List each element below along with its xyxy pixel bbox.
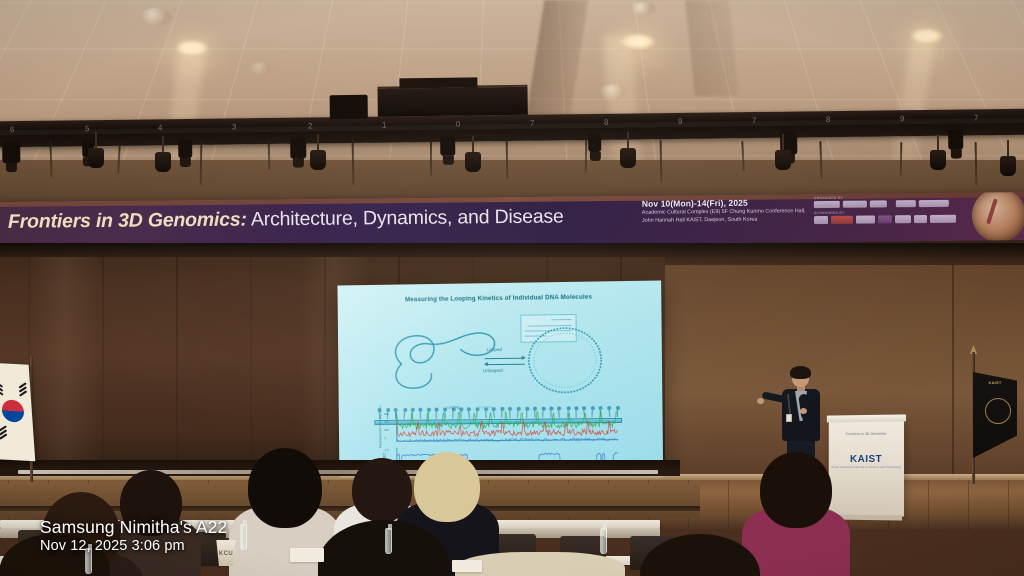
organizer-logo: [814, 201, 840, 208]
curtain-fold: [250, 243, 252, 485]
audience-member-head: [414, 452, 480, 522]
podium-kaist-sublogo: Korea Advanced Institute of Science and …: [829, 466, 904, 469]
podium-kaist-logo: KAIST: [829, 454, 904, 465]
slide-title: Measuring the Looping Kinetics of Indivi…: [338, 293, 662, 305]
floor-plank: [728, 478, 729, 530]
water-bottle: [85, 548, 92, 574]
truss-position-number: 8: [604, 118, 609, 127]
truss-position-number: 3: [232, 122, 237, 131]
stage-spotlight: [440, 136, 455, 156]
curtain-valance: [0, 243, 1024, 257]
annotation-looping: Looping: [447, 405, 459, 409]
truss-equipment-box: [330, 95, 368, 119]
plot-top-ytick: 600: [384, 412, 389, 416]
truss-position-number: 9: [900, 114, 905, 123]
sponsor-logo: [930, 214, 956, 222]
hanging-light-fixture: [620, 148, 636, 168]
plot-top-ytick: 0: [384, 436, 386, 440]
projected-slide: Measuring the Looping Kinetics of Indivi…: [337, 280, 663, 481]
banner-title-emphasis: Frontiers in 3D Genomics:: [8, 209, 247, 233]
floor-plank: [928, 478, 929, 530]
taeguk-symbol: [1, 399, 24, 422]
stage-edge-lightstrip: [18, 470, 658, 474]
sponsor-logo: [895, 215, 911, 223]
sponsor-logo: [814, 215, 828, 223]
stage-spotlight: [2, 141, 20, 163]
floor-plank: [1008, 478, 1009, 530]
hanging-light-fixture: [310, 150, 326, 170]
korea-flag: [0, 356, 42, 482]
sponsor-logo: [878, 215, 892, 223]
truss-position-number: 7: [530, 119, 535, 128]
handout-paper: [290, 548, 324, 562]
truss-position-number: 8: [826, 115, 831, 124]
paper-cup-text: KCU: [215, 551, 237, 557]
banner-title-rest: Architecture, Dynamics, and Disease: [247, 206, 564, 231]
hanging-light-fixture: [88, 148, 104, 168]
slide-diagram: Looped Unlooped: [338, 311, 663, 405]
presenter-left-hand: [757, 398, 764, 404]
banner-title: Frontiers in 3D Genomics: Architecture, …: [8, 206, 564, 234]
presenter-name-badge: [786, 414, 792, 422]
podium-event-caption: Frontiers in 3D Genomics: [829, 432, 904, 437]
audience-member-head: [760, 452, 832, 528]
ceiling-light: [910, 28, 944, 44]
hanging-light-fixture: [930, 150, 946, 170]
truss-rail: [0, 118, 1024, 136]
projection-screen: Measuring the Looping Kinetics of Indivi…: [337, 280, 663, 481]
organizer-logo: [870, 200, 887, 207]
water-bottle: [240, 524, 247, 550]
podium-top-surface: [827, 414, 906, 422]
truss-position-number: 0: [456, 120, 461, 129]
floor-plank: [968, 478, 969, 530]
truss-equipment-box: [399, 77, 477, 88]
truss-equipment-box: [377, 85, 527, 117]
wall-seam: [952, 265, 954, 485]
truss-position-number: 7: [752, 116, 757, 125]
banner-date-block: Nov 10(Mon)-14(Fri), 2025 Academic Cultu…: [642, 197, 827, 226]
hanging-cable: [430, 140, 432, 176]
hanging-light-fixture: [465, 152, 481, 172]
curtain-fold: [102, 243, 104, 485]
ceiling-diffuser: [600, 84, 628, 100]
plot-top-traces: [396, 410, 626, 446]
truss-position-number: 9: [678, 117, 683, 126]
truss-position-number: 4: [158, 123, 163, 132]
plot-bottom-ytick: 1.0: [384, 448, 388, 452]
reaction-label-reverse: Unlooped: [483, 368, 503, 373]
truss-position-number: 7: [974, 113, 979, 122]
hanging-light-fixture: [775, 150, 791, 170]
truss-position-number: 1: [382, 121, 387, 130]
audience-member-head: [120, 470, 182, 536]
podium: Frontiers in 3D Genomics KAIST Korea Adv…: [829, 419, 904, 516]
hanging-light-fixture: [155, 152, 171, 172]
event-banner: Frontiers in 3D Genomics: Architecture, …: [0, 192, 1024, 250]
sponsor-logo: [831, 215, 853, 223]
truss-position-number: 6: [10, 125, 15, 134]
organizer-logo: [896, 200, 916, 207]
reaction-label-forward: Looped: [487, 347, 502, 352]
presenter-right-hand: [800, 408, 807, 414]
presenter-hair: [790, 366, 811, 379]
water-bottle: [385, 528, 392, 554]
curtain-fold: [176, 243, 178, 485]
truss-position-number: 2: [308, 121, 313, 130]
ceiling-light: [175, 40, 209, 56]
stage-spotlight: [290, 138, 306, 159]
kaist-flag-cloth: KAIST: [973, 372, 1017, 458]
sponsor-logo: [856, 215, 875, 223]
kaist-seal-text: KAIST: [973, 380, 1017, 385]
stage-spotlight: [588, 134, 601, 152]
audience-member-head: [248, 448, 322, 528]
ceiling-diffuser: [250, 62, 272, 75]
conference-photo: 65432107897897 Frontiers in 3D Genomics:…: [0, 0, 1024, 576]
stage-spotlight: [178, 139, 192, 158]
hanging-light-fixture: [1000, 156, 1016, 176]
plot-top-ylabel: Fluorescence Intensity (a.u.): [378, 405, 382, 448]
truss-position-number: 5: [85, 124, 90, 133]
water-bottle: [600, 528, 607, 554]
banner-venue-line-2: John Hannah Hall KAIST, Daejeon, South K…: [642, 215, 827, 225]
sponsor-logo: [914, 215, 927, 223]
handout-paper: [452, 560, 482, 572]
banner-graphic-orb: [972, 192, 1024, 243]
plot-top-ytick: 400: [384, 420, 389, 424]
kaist-seal-ring: [985, 398, 1011, 424]
organizer-logo: [919, 200, 949, 207]
ceiling-light: [620, 33, 656, 50]
curtain-fold: [324, 243, 326, 485]
stage-spotlight: [948, 129, 963, 149]
kaist-flag: KAIST: [962, 352, 1018, 484]
annotation-unlooping: Unlooping: [477, 405, 492, 409]
organizer-logo: [843, 201, 867, 208]
plot-top-ytick: 200: [384, 428, 389, 432]
